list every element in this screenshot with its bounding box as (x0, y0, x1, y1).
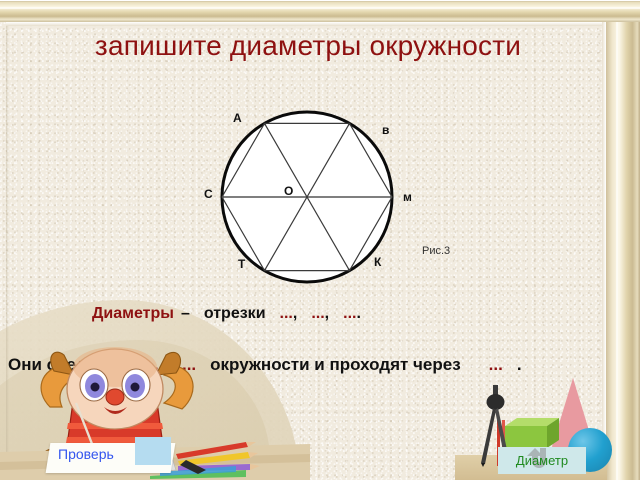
statement1-comma-1: , (293, 305, 297, 322)
owl-right-pupil (131, 383, 140, 392)
owl-right-ear (156, 352, 181, 375)
figure-caption: Рис.3 (422, 245, 450, 257)
frame-right-highlight (616, 0, 618, 480)
point-label-K: К (374, 255, 381, 269)
statement1-period: . (356, 305, 360, 322)
statement2-period: . (517, 355, 522, 374)
slide-canvas: запишите диаметры окружности А в С м Т К… (0, 0, 640, 480)
point-label-T: Т (238, 257, 245, 271)
statement1-blank-3: ... (343, 305, 356, 322)
statement-line-1: Диаметры–отрезки...,...,.... (92, 305, 361, 323)
point-label-B: в (382, 123, 389, 137)
statement2-blank-3: ... (489, 355, 503, 374)
point-label-C: С (204, 187, 213, 201)
diameter-button-label: Диаметр (516, 453, 568, 468)
frame-top-border (0, 0, 640, 22)
owl-beak (106, 389, 124, 405)
owl-left-ear (51, 352, 74, 375)
statement1-keyword: Диаметры (92, 305, 174, 322)
frame-inner-shadow-left (6, 26, 9, 480)
owl-left-pupil (91, 383, 100, 392)
frame-inner-edge-top (6, 22, 606, 26)
statement1-blank-2: ... (311, 305, 324, 322)
compass-needle-point (481, 463, 485, 467)
point-label-M: м (403, 190, 412, 204)
statement1-dash: – (181, 305, 190, 322)
circle-diagram: А в С м Т К О Рис.3 (200, 105, 460, 290)
diameter-button[interactable]: Диаметр (498, 447, 586, 474)
compass-hinge (487, 394, 505, 410)
page-title: запишите диаметры окружности (0, 30, 616, 62)
point-label-A: А (233, 111, 242, 125)
statement1-word: отрезки (204, 305, 266, 322)
center-label-O: О (284, 184, 293, 198)
statement1-blank-1: ... (280, 305, 293, 322)
frame-right-border (606, 0, 640, 480)
blue-note-rectangle (135, 437, 171, 465)
compass-left-leg (481, 408, 496, 464)
check-answer-link[interactable]: Проверь (58, 446, 114, 462)
frame-inner-edge-right (602, 22, 606, 480)
statement1-comma-2: , (325, 305, 329, 322)
statement2-part-2: окружности и проходят через (210, 355, 461, 374)
frame-top-highlight (0, 7, 640, 9)
